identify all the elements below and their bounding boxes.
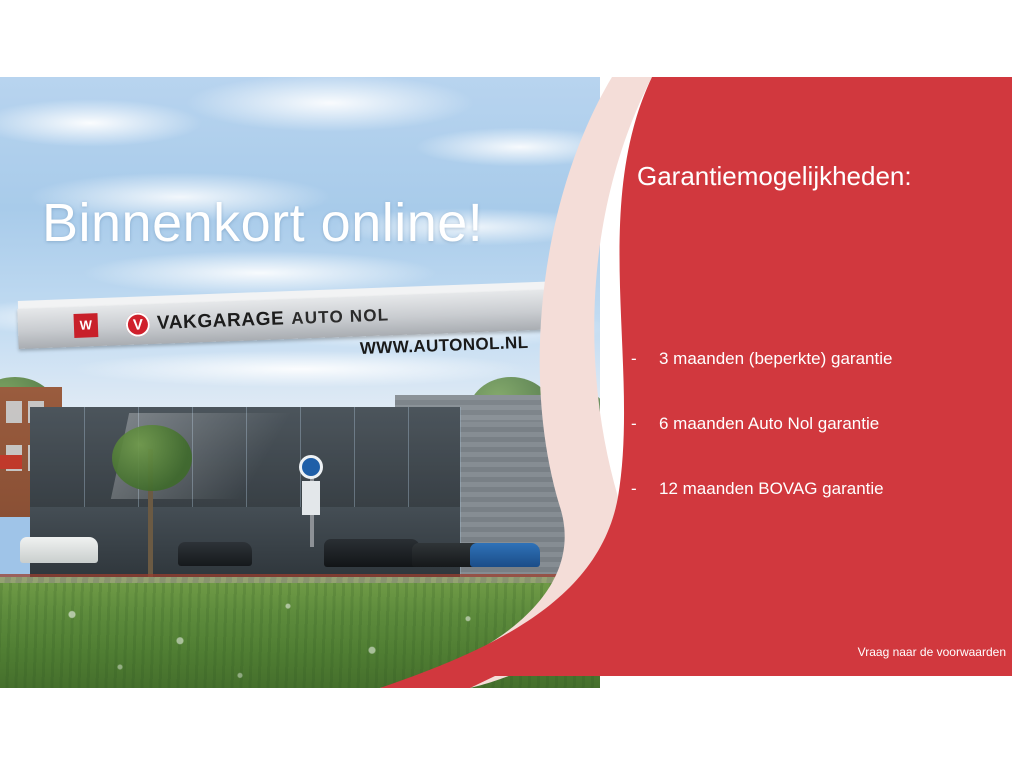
list-item-label: 3 maanden (beperkte) garantie bbox=[659, 349, 892, 369]
bullet-dash-icon: - bbox=[631, 349, 659, 369]
panel-content: Garantiemogelijkheden: - 3 maanden (bepe… bbox=[600, 77, 1024, 688]
list-item-label: 6 maanden Auto Nol garantie bbox=[659, 414, 879, 434]
list-item: - 12 maanden BOVAG garantie bbox=[631, 479, 1011, 499]
panel-footnote: Vraag naar de voorwaarden bbox=[858, 645, 1006, 659]
list-item: - 3 maanden (beperkte) garantie bbox=[631, 349, 1011, 369]
bullet-dash-icon: - bbox=[631, 479, 659, 499]
bullet-dash-icon: - bbox=[631, 414, 659, 434]
panel-title: Garantiemogelijkheden: bbox=[637, 161, 912, 192]
warranty-options-list: - 3 maanden (beperkte) garantie - 6 maan… bbox=[631, 349, 1011, 544]
list-item: - 6 maanden Auto Nol garantie bbox=[631, 414, 1011, 434]
list-item-label: 12 maanden BOVAG garantie bbox=[659, 479, 884, 499]
slide-canvas: W V VAKGARAGE AUTO NOL WWW.AUTONOL.NL Bi… bbox=[0, 77, 1024, 688]
